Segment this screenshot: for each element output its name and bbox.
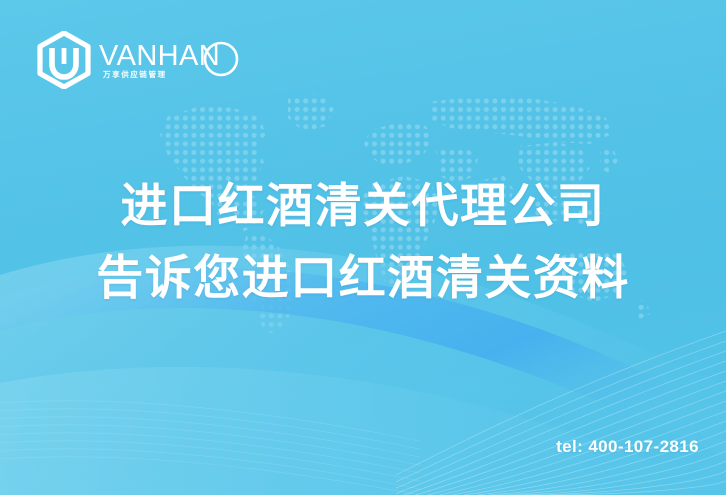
brand-wordmark: VANHAN 万享供应链管理 [99, 31, 251, 89]
promo-banner: VANHAN 万享供应链管理 进口红酒清关代理公司 告诉您进口红酒清关资料 te… [0, 0, 726, 495]
headline-line-2: 告诉您进口红酒清关资料 [0, 242, 726, 314]
brand-subtitle: 万享供应链管理 [103, 69, 167, 80]
brand-logo[interactable]: VANHAN 万享供应链管理 [36, 31, 251, 89]
headline: 进口红酒清关代理公司 告诉您进口红酒清关资料 [0, 170, 726, 314]
svg-text:VANHAN: VANHAN [99, 40, 220, 72]
headline-line-1: 进口红酒清关代理公司 [0, 170, 726, 242]
contact-phone[interactable]: tel: 400-107-2816 [556, 437, 699, 457]
hairline-texture [0, 385, 420, 495]
hexagon-u-logo-icon [36, 31, 92, 89]
diagonal-line-texture [396, 295, 726, 495]
